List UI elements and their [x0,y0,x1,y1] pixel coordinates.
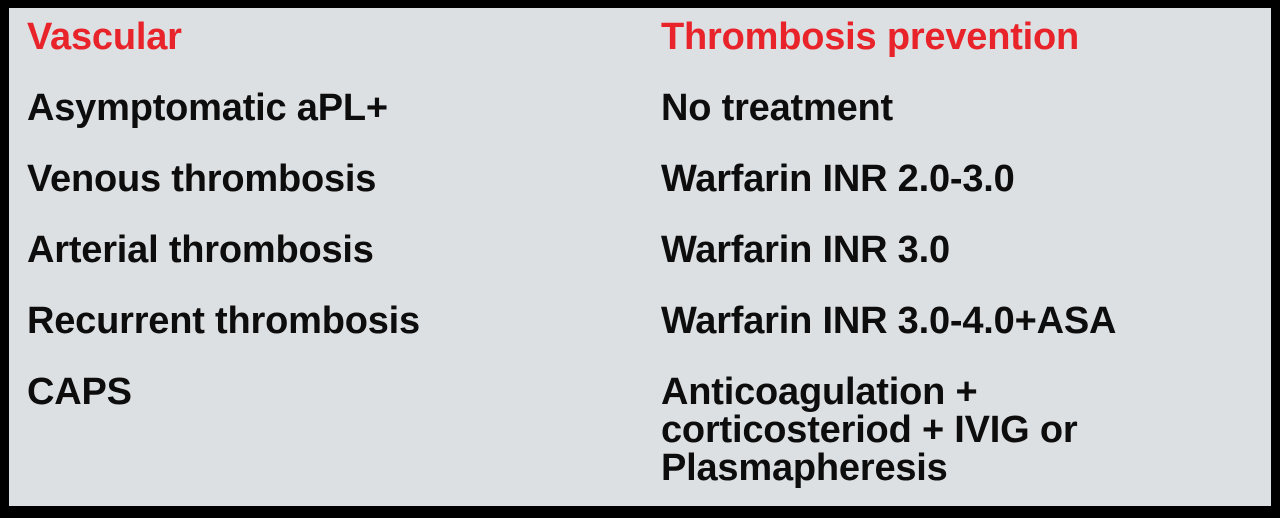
cell-treatment: Anticoagulation + corticosteriod + IVIG … [661,373,1271,487]
cell-condition: Recurrent thrombosis [27,302,661,340]
treatment-table: Vascular Thrombosis prevention Asymptoma… [27,18,1271,487]
slide-frame: Vascular Thrombosis prevention Asymptoma… [0,0,1280,518]
column-header-treatment: Thrombosis prevention [661,18,1271,56]
cell-treatment: Warfarin INR 3.0 [661,231,1271,269]
table-panel: Vascular Thrombosis prevention Asymptoma… [9,8,1271,506]
cell-condition: Asymptomatic aPL+ [27,89,661,127]
cell-condition: CAPS [27,373,661,411]
table-row: CAPS Anticoagulation + corticosteriod + … [27,373,1271,487]
column-header-condition: Vascular [27,18,661,56]
table-row: Arterial thrombosis Warfarin INR 3.0 [27,231,1271,302]
cell-treatment: Warfarin INR 3.0-4.0+ASA [661,302,1271,340]
table-row: Recurrent thrombosis Warfarin INR 3.0-4.… [27,302,1271,373]
table-row: Asymptomatic aPL+ No treatment [27,89,1271,160]
cell-condition: Arterial thrombosis [27,231,661,269]
cell-treatment: Warfarin INR 2.0-3.0 [661,160,1271,198]
table-header-row: Vascular Thrombosis prevention [27,18,1271,89]
cell-treatment: No treatment [661,89,1271,127]
cell-condition: Venous thrombosis [27,160,661,198]
table-row: Venous thrombosis Warfarin INR 2.0-3.0 [27,160,1271,231]
